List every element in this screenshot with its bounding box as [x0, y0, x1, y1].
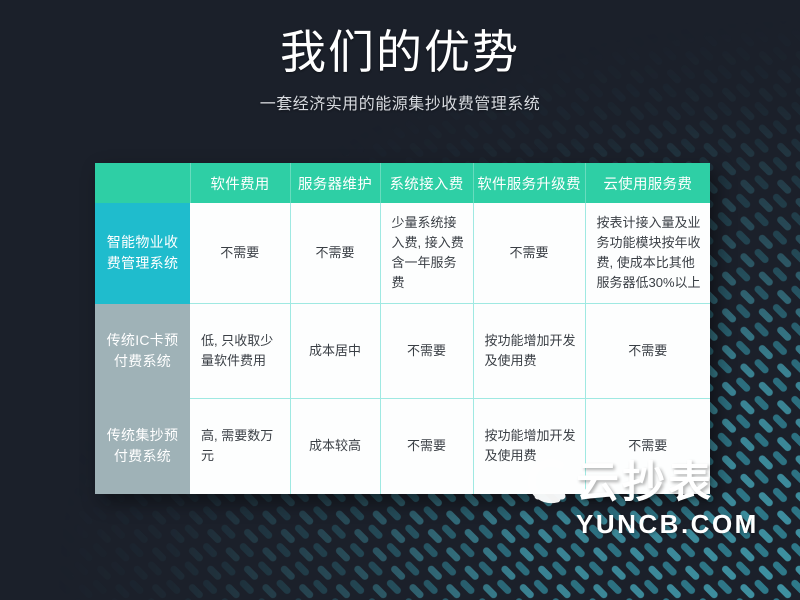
- table-row: 传统IC卡预付费系统 低, 只收取少量软件费用 成本居中 不需要 按功能增加开发…: [95, 304, 710, 399]
- cell-r2-c5: 不需要: [585, 399, 710, 494]
- row-header-smart-property-system: 智能物业收费管理系统: [95, 203, 190, 304]
- cell-r0-c1: 不需要: [190, 203, 290, 304]
- cell-r0-c3: 少量系统接入费, 接入费含一年服务费: [380, 203, 473, 304]
- column-header-software-upgrade-fee: 软件服务升级费: [473, 163, 585, 203]
- cell-r1-c3: 不需要: [380, 304, 473, 399]
- table-corner-cell: [95, 163, 190, 203]
- watermark-url: YUNCB.COM: [576, 510, 759, 538]
- cell-r0-c5: 按表计接入量及业务功能模块按年收费, 使成本比其他服务器低30%以上: [585, 203, 710, 304]
- cell-r0-c4: 不需要: [473, 203, 585, 304]
- cell-r1-c2: 成本居中: [290, 304, 380, 399]
- table-row: 传统集抄预付费系统 高, 需要数万元 成本较高 不需要 按功能增加开发及使用费 …: [95, 399, 710, 494]
- cell-r1-c1: 低, 只收取少量软件费用: [190, 304, 290, 399]
- comparison-table: 软件费用 服务器维护 系统接入费 软件服务升级费 云使用服务费 智能物业收费管理…: [95, 163, 710, 494]
- cell-r2-c3: 不需要: [380, 399, 473, 494]
- cell-r1-c5: 不需要: [585, 304, 710, 399]
- column-header-cloud-service-fee: 云使用服务费: [585, 163, 710, 203]
- cell-r2-c1: 高, 需要数万元: [190, 399, 290, 494]
- table-row: 智能物业收费管理系统 不需要 不需要 少量系统接入费, 接入费含一年服务费 不需…: [95, 203, 710, 304]
- cell-r1-c4: 按功能增加开发及使用费: [473, 304, 585, 399]
- column-header-software-fee: 软件费用: [190, 163, 290, 203]
- cell-r2-c2: 成本较高: [290, 399, 380, 494]
- cell-r0-c2: 不需要: [290, 203, 380, 304]
- column-header-system-access-fee: 系统接入费: [380, 163, 473, 203]
- page-subtitle: 一套经济实用的能源集抄收费管理系统: [0, 92, 800, 118]
- hero-section: 我们的优势 一套经济实用的能源集抄收费管理系统: [0, 0, 800, 118]
- table-header-row: 软件费用 服务器维护 系统接入费 软件服务升级费 云使用服务费: [95, 163, 710, 203]
- table-body: 智能物业收费管理系统 不需要 不需要 少量系统接入费, 接入费含一年服务费 不需…: [95, 203, 710, 494]
- row-header-traditional-collective-system: 传统集抄预付费系统: [95, 399, 190, 494]
- comparison-table-container: 软件费用 服务器维护 系统接入费 软件服务升级费 云使用服务费 智能物业收费管理…: [95, 163, 710, 494]
- row-header-traditional-ic-card-system: 传统IC卡预付费系统: [95, 304, 190, 399]
- column-header-server-maintenance: 服务器维护: [290, 163, 380, 203]
- cell-r2-c4: 按功能增加开发及使用费: [473, 399, 585, 494]
- table-header: 软件费用 服务器维护 系统接入费 软件服务升级费 云使用服务费: [95, 163, 710, 203]
- page-title: 我们的优势: [0, 22, 800, 82]
